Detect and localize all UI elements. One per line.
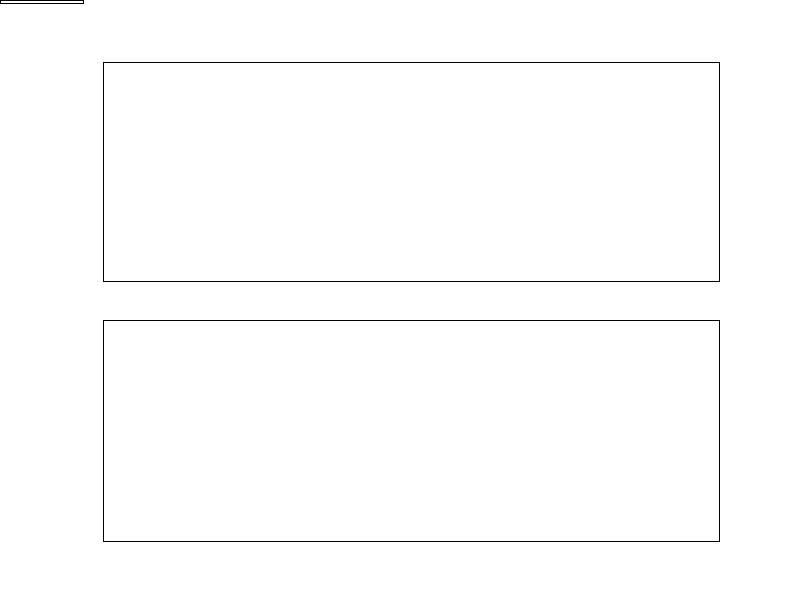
cumulative-curve-plot: [104, 321, 719, 541]
mag-limit-line-icon: [11, 1, 57, 3]
differential-histogram-axes: [103, 62, 720, 282]
legend[interactable]: [0, 0, 84, 4]
figure-canvas: [0, 0, 800, 600]
differential-histogram-plot: [104, 63, 719, 281]
cumulative-curve-axes: [103, 320, 720, 542]
